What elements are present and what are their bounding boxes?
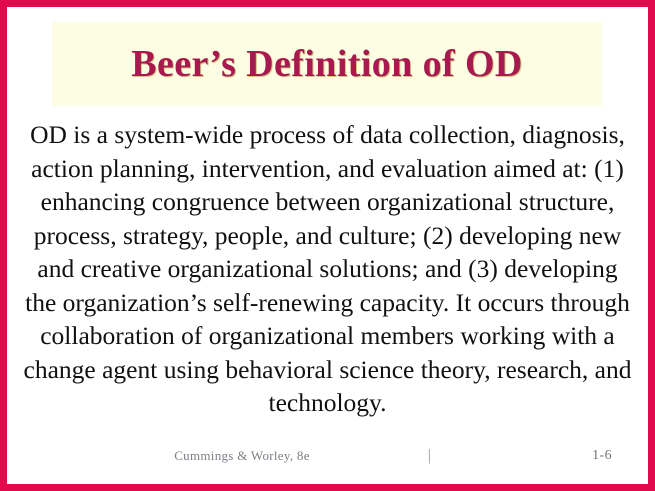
footer-credit-label: Cummings & Worley, 8e xyxy=(7,448,477,464)
slide-canvas: Beer’s Definition of OD OD is a system-w… xyxy=(0,0,655,491)
slide-border-bottom xyxy=(0,484,655,491)
footer-center-mark: │ xyxy=(425,449,434,464)
footer-page-number: 1-6 xyxy=(592,448,612,464)
slide-title: Beer’s Definition of OD xyxy=(52,22,602,106)
slide-body-text: OD is a system-wide process of data coll… xyxy=(22,118,633,420)
slide-border-left xyxy=(0,0,7,491)
slide-border-top xyxy=(0,0,655,7)
slide-border-right xyxy=(648,0,655,491)
body-paragraph: OD is a system-wide process of data coll… xyxy=(22,118,633,420)
slide-footer: Cummings & Worley, 8e │ 1-6 xyxy=(7,448,648,474)
